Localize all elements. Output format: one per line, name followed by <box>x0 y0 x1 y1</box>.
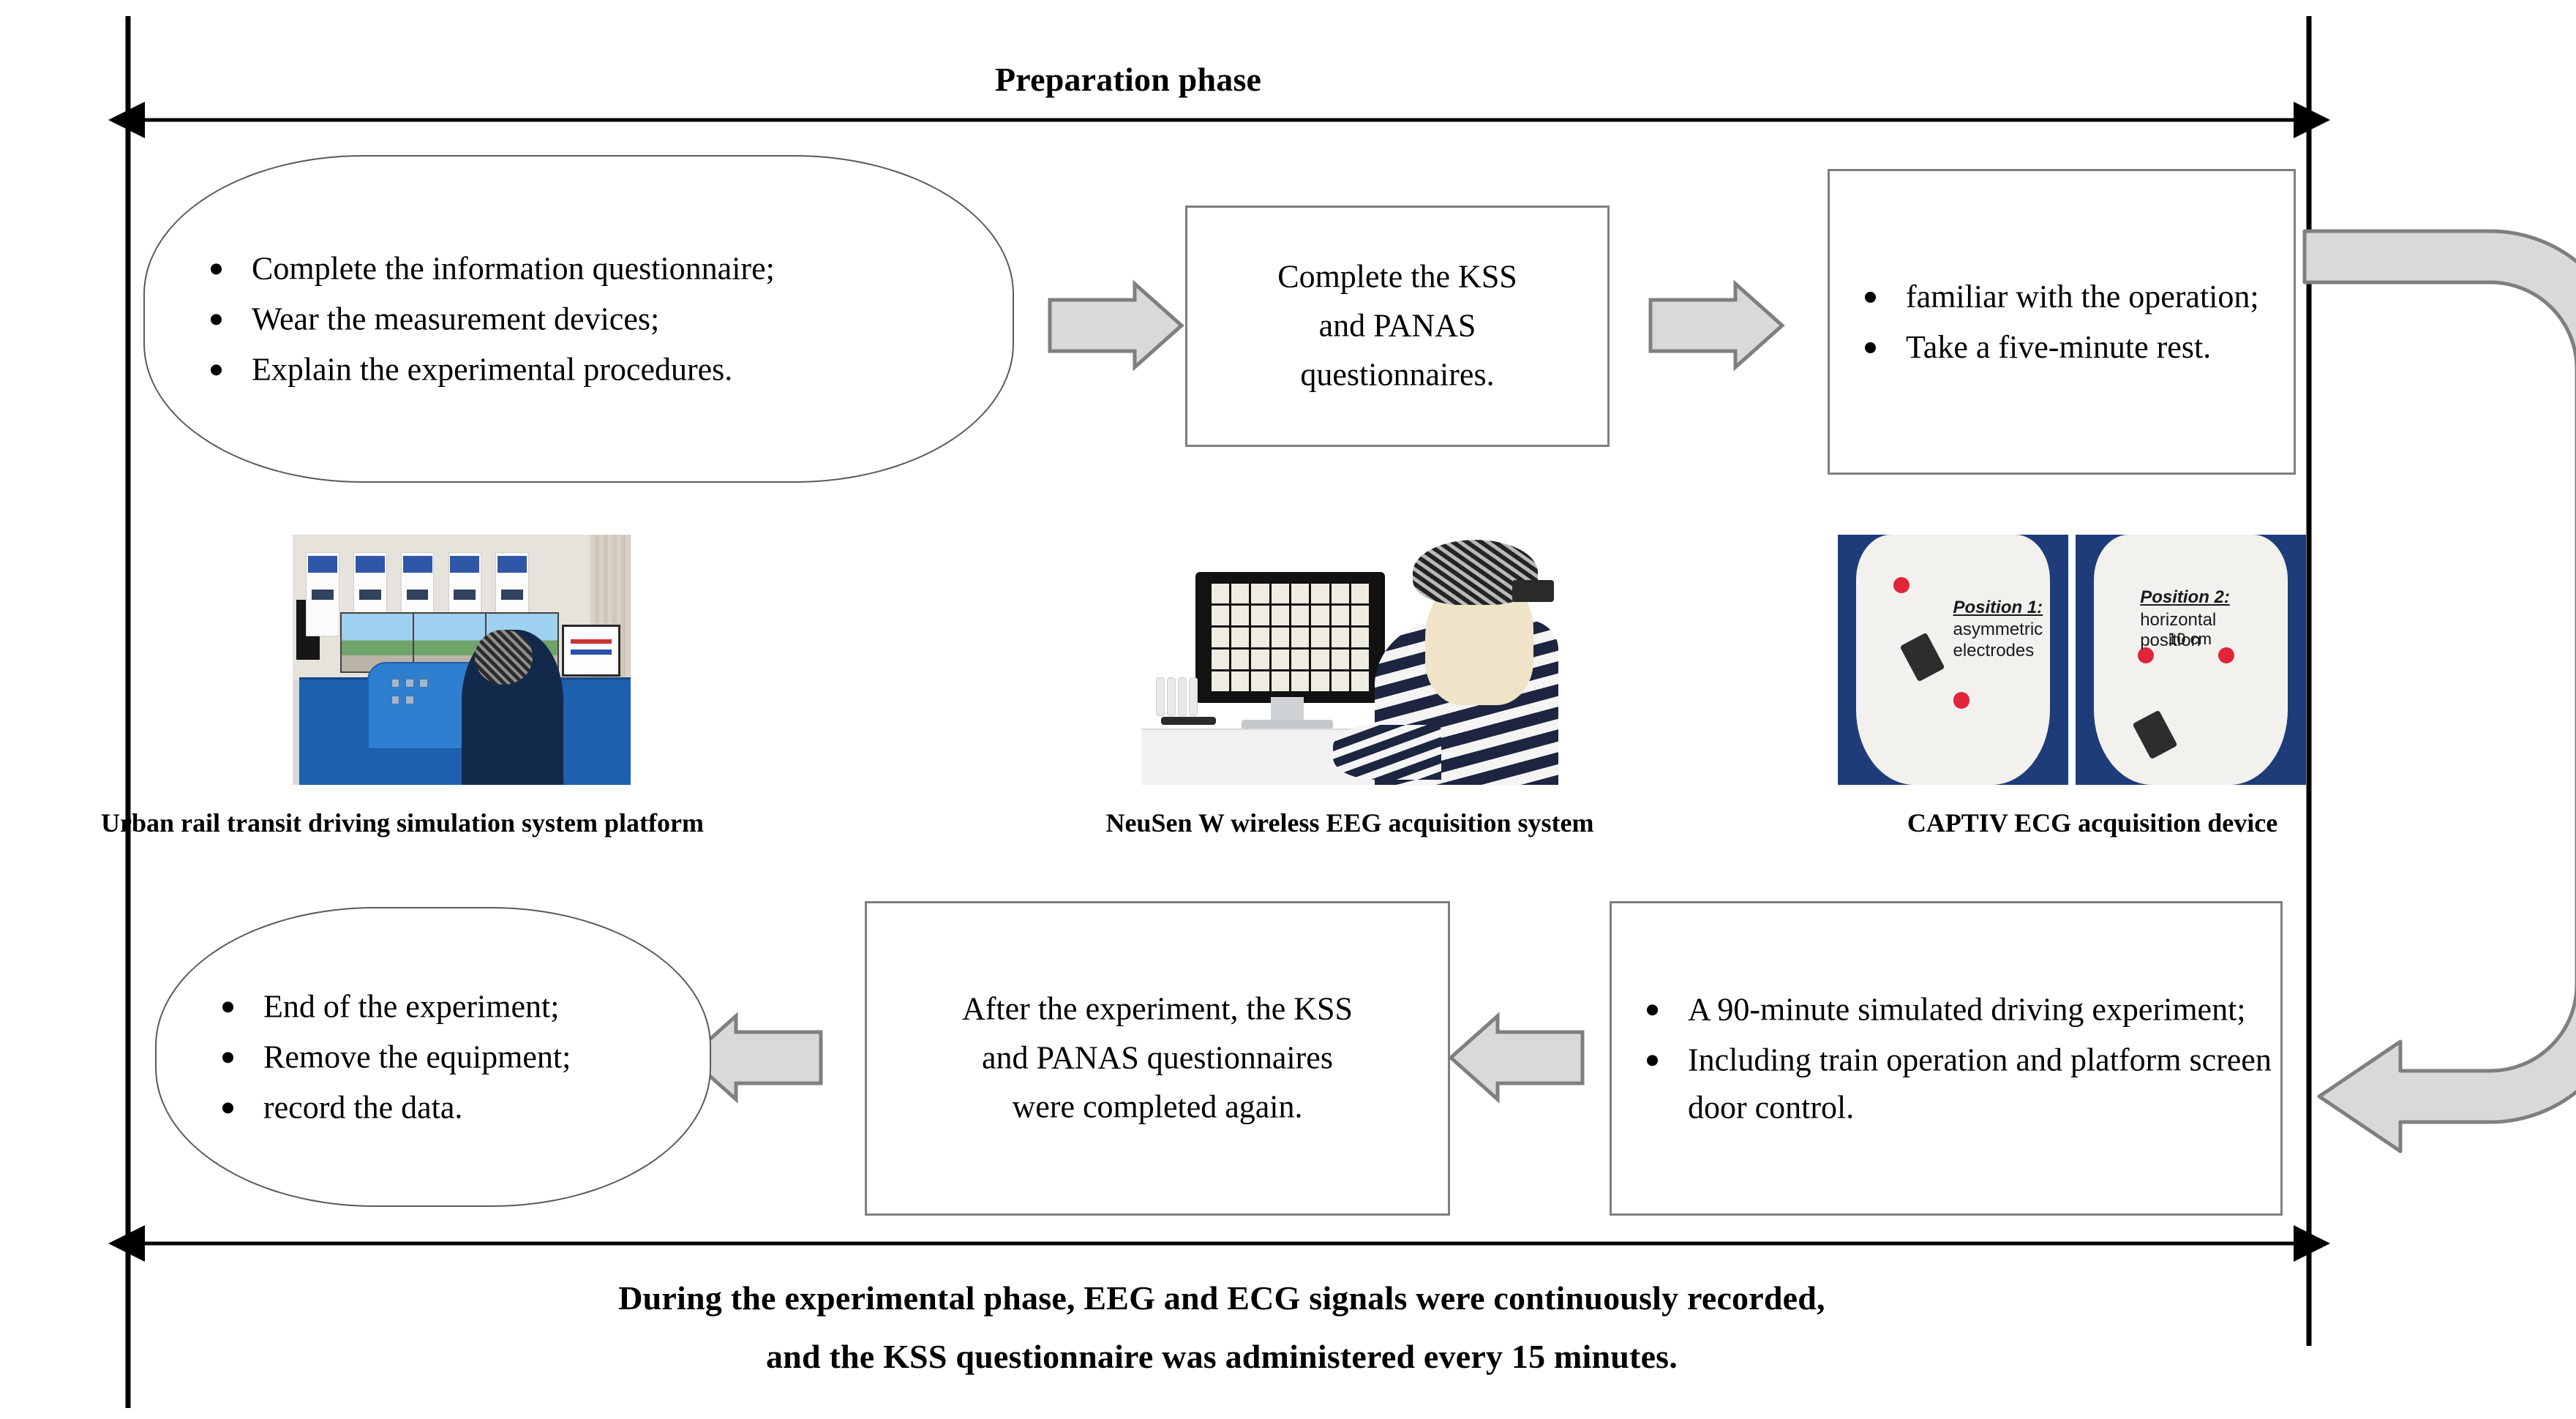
text-line: questionnaires. <box>1206 350 1588 399</box>
box-kss-panas-before: Complete the KSS and PANAS questionnaire… <box>1185 206 1610 447</box>
electrode-distance-label: 10 cm <box>2168 630 2212 649</box>
experiment-end-list: End of the experiment; Remove the equipm… <box>206 982 710 1131</box>
text-line: and PANAS questionnaires <box>886 1034 1429 1083</box>
flowchart-canvas: Preparation phase Complete the informati… <box>0 0 2576 1419</box>
text-line: Complete the KSS <box>1206 253 1588 302</box>
position-1-desc: asymmetric electrodes <box>1953 620 2043 662</box>
list-item: Including train operation and platform s… <box>1631 1036 2280 1131</box>
driving-simulator-photo <box>293 535 631 785</box>
text-line: After the experiment, the KSS <box>886 985 1429 1034</box>
wireless-receiver <box>1154 675 1245 725</box>
familiarization-list: familiar with the operation; Take a five… <box>1849 273 2294 371</box>
list-item: record the data. <box>206 1084 710 1132</box>
list-item: Remove the equipment; <box>206 1033 710 1080</box>
box-experiment-end: End of the experiment; Remove the equipm… <box>155 907 711 1207</box>
caption-driving-simulator: Urban rail transit driving simulation sy… <box>7 808 797 838</box>
ecg-electrode <box>1893 577 1910 593</box>
ecg-position-1-pane: Position 1: asymmetric electrodes <box>1838 535 2068 785</box>
list-item: Explain the experimental procedures. <box>195 346 1013 394</box>
arrow-box1-to-box2 <box>1050 284 1182 367</box>
wall-poster <box>306 552 339 636</box>
box-familiarization: familiar with the operation; Take a five… <box>1828 169 2296 475</box>
kss-panas-after-text: After the experiment, the KSS and PANAS … <box>867 985 1448 1132</box>
driving-experiment-list: A 90-minute simulated driving experiment… <box>1631 985 2280 1131</box>
phase-title: Preparation phase <box>995 60 1261 99</box>
monitor-stand <box>1271 697 1304 722</box>
torso-model <box>2094 535 2288 785</box>
list-item: Wear the measurement devices; <box>195 295 1013 342</box>
ecg-position-2-pane: Position 2: horizontal position 10 cm <box>2076 535 2306 785</box>
arrow-box4-to-box5 <box>1451 1016 1582 1099</box>
participant-arm <box>1333 725 1441 780</box>
kss-panas-before-text: Complete the KSS and PANAS questionnaire… <box>1187 253 1607 400</box>
eeg-cap-on-driver <box>475 630 533 685</box>
list-item: End of the experiment; <box>206 982 710 1030</box>
list-item: familiar with the operation; <box>1849 273 2294 320</box>
arrow-u-turn-wrap <box>2305 231 2576 1151</box>
ecg-electrode <box>1953 692 1969 708</box>
text-line: were completed again. <box>886 1083 1429 1132</box>
footer-line-2: and the KSS questionnaire was administer… <box>0 1337 2444 1376</box>
text-line: and PANAS <box>1206 302 1588 351</box>
ecg-electrodes-photo: Position 1: asymmetric electrodes Positi… <box>1838 535 2306 785</box>
footer-line-1: During the experimental phase, EEG and E… <box>0 1279 2444 1317</box>
box-kss-panas-after: After the experiment, the KSS and PANAS … <box>865 901 1450 1216</box>
operator-monitor <box>562 625 620 677</box>
list-item: A 90-minute simulated driving experiment… <box>1631 985 2280 1033</box>
caption-eeg-system: NeuSen W wireless EEG acquisition system <box>958 808 1741 838</box>
list-item: Complete the information questionnaire; <box>195 244 1013 292</box>
arrow-box2-to-box3 <box>1651 284 1782 367</box>
position-2-title: Position 2: <box>2140 587 2230 608</box>
eeg-headset-photo <box>1141 535 1558 785</box>
position-1-title: Position 1: <box>1953 598 2043 618</box>
list-item: Take a five-minute rest. <box>1849 323 2294 371</box>
caption-ecg-device: CAPTIV ECG acquisition device <box>1756 808 2429 838</box>
box-driving-experiment: A 90-minute simulated driving experiment… <box>1610 901 2283 1216</box>
wireless-amplifier <box>1512 580 1554 603</box>
box-preparation-tasks: Complete the information questionnaire; … <box>143 155 1014 483</box>
preparation-task-list: Complete the information questionnaire; … <box>195 244 1013 393</box>
